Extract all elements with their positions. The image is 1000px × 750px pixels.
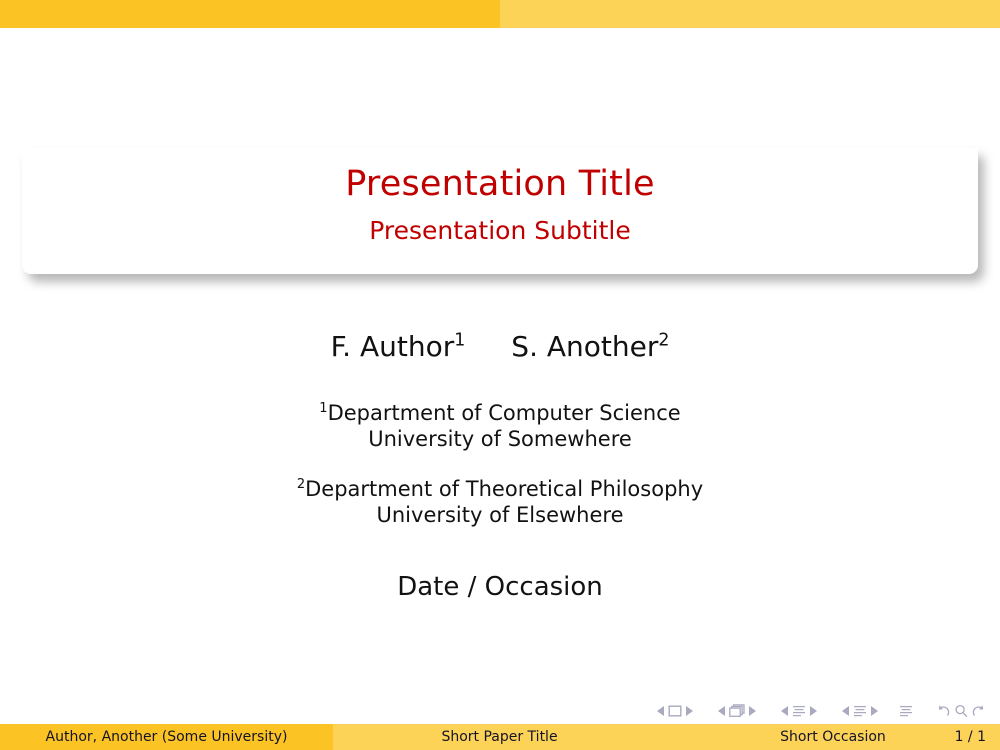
frame-next-icon[interactable] bbox=[749, 706, 756, 716]
search-icon[interactable] bbox=[954, 704, 968, 718]
affiliation-mark-2: 2 bbox=[297, 477, 305, 492]
section-icon[interactable] bbox=[853, 705, 867, 718]
footer-paper-title-text: Short Paper Title bbox=[441, 729, 557, 745]
subsection-icon[interactable] bbox=[792, 705, 806, 718]
footer-author-text: Author, Another (Some University) bbox=[46, 729, 288, 745]
navigation-symbols bbox=[653, 700, 986, 722]
headline-bar-right-segment bbox=[500, 0, 1000, 28]
go-forward-icon[interactable] bbox=[971, 704, 986, 718]
frames-icon[interactable] bbox=[729, 704, 745, 718]
nav-group-frame bbox=[714, 704, 760, 718]
beamer-slide: Presentation Title Presentation Subtitle… bbox=[0, 0, 1000, 750]
footer-title-segment: Short Paper Title bbox=[333, 724, 666, 750]
affiliation-department-2: Department of Theoretical Philosophy bbox=[305, 477, 703, 501]
document-icon[interactable] bbox=[899, 705, 913, 718]
nav-group-document bbox=[899, 705, 913, 718]
subsection-next-icon[interactable] bbox=[810, 706, 817, 716]
title-block: Presentation Title Presentation Subtitle bbox=[22, 148, 978, 274]
affiliation-university-2: University of Elsewhere bbox=[0, 502, 1000, 528]
author-affiliation-mark-2: 2 bbox=[658, 331, 669, 351]
slide-next-icon[interactable] bbox=[686, 706, 693, 716]
footer-page-number: 1 / 1 bbox=[955, 724, 986, 750]
author-list: F. Author1S. Another2 bbox=[0, 328, 1000, 366]
subsection-prev-icon[interactable] bbox=[781, 706, 788, 716]
nav-group-section bbox=[838, 705, 882, 718]
section-prev-icon[interactable] bbox=[842, 706, 849, 716]
frame-prev-icon[interactable] bbox=[718, 706, 725, 716]
affiliation-list: 1Department of Computer Science Universi… bbox=[0, 400, 1000, 528]
headline-bar bbox=[0, 0, 1000, 28]
author-entry-2: S. Another2 bbox=[511, 328, 669, 366]
author-entry-1: F. Author1 bbox=[331, 328, 466, 366]
footline-bar: Author, Another (Some University) Short … bbox=[0, 724, 1000, 750]
affiliation-department-line-1: 1Department of Computer Science bbox=[0, 400, 1000, 426]
slide-prev-icon[interactable] bbox=[657, 706, 664, 716]
affiliation-department-1: Department of Computer Science bbox=[328, 401, 681, 425]
slide-icon[interactable] bbox=[668, 705, 682, 717]
nav-group-misc bbox=[936, 704, 986, 718]
section-next-icon[interactable] bbox=[871, 706, 878, 716]
page-title: Presentation Title bbox=[345, 162, 655, 206]
affiliation-university-1: University of Somewhere bbox=[0, 426, 1000, 452]
affiliation-entry-2: 2Department of Theoretical Philosophy Un… bbox=[0, 476, 1000, 528]
page-subtitle: Presentation Subtitle bbox=[369, 215, 630, 247]
affiliation-entry-1: 1Department of Computer Science Universi… bbox=[0, 400, 1000, 452]
footer-occasion-text: Short Occasion bbox=[780, 729, 886, 745]
affiliation-mark-1: 1 bbox=[319, 401, 327, 416]
author-affiliation-mark-1: 1 bbox=[454, 331, 465, 351]
nav-group-subsection bbox=[777, 705, 821, 718]
date-occasion: Date / Occasion bbox=[0, 570, 1000, 604]
nav-group-slide bbox=[653, 705, 697, 717]
author-name-2: S. Another bbox=[511, 330, 658, 363]
affiliation-department-line-2: 2Department of Theoretical Philosophy bbox=[0, 476, 1000, 502]
go-back-icon[interactable] bbox=[936, 704, 951, 718]
footer-author-segment: Author, Another (Some University) bbox=[0, 724, 333, 750]
author-name-1: F. Author bbox=[331, 330, 455, 363]
headline-bar-left-segment bbox=[0, 0, 500, 28]
footer-occasion-segment: Short Occasion 1 / 1 bbox=[666, 724, 1000, 750]
title-block-wrapper: Presentation Title Presentation Subtitle bbox=[22, 148, 978, 274]
